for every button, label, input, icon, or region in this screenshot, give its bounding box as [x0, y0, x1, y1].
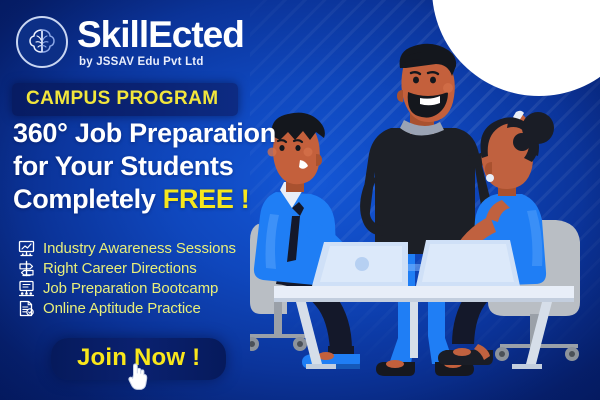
- presentation-chart-icon: [18, 240, 35, 257]
- feature-item-aptitude-practice: Online Aptitude Practice: [18, 300, 236, 317]
- campus-program-badge: CAMPUS PROGRAM: [12, 83, 238, 116]
- office-meeting-illustration: [250, 24, 600, 400]
- headline-line-2: for Your Students: [13, 150, 276, 183]
- bootcamp-classroom-icon: [18, 280, 35, 297]
- headline-free-highlight: FREE !: [163, 184, 250, 214]
- skillected-logo: SkillEcted by JSSAV Edu Pvt Ltd: [16, 16, 244, 69]
- feature-item-bootcamp: Job Preparation Bootcamp: [18, 280, 236, 297]
- feature-label: Industry Awareness Sessions: [43, 240, 236, 257]
- headline: 360° Job Preparation for Your Students C…: [13, 117, 276, 216]
- feature-item-industry-awareness: Industry Awareness Sessions: [18, 240, 236, 257]
- logo-tagline: by JSSAV Edu Pvt Ltd: [79, 57, 244, 69]
- feature-label: Job Preparation Bootcamp: [43, 280, 218, 297]
- join-now-button[interactable]: Join Now !: [51, 338, 226, 380]
- headline-line-3: Completely FREE !: [13, 183, 276, 216]
- brain-icon: [16, 16, 68, 68]
- campus-program-label: CAMPUS PROGRAM: [26, 88, 218, 109]
- online-test-document-icon: [18, 300, 35, 317]
- feature-list: Industry Awareness Sessions Right Career…: [18, 240, 236, 317]
- headline-line-3-prefix: Completely: [13, 184, 163, 214]
- feature-item-career-directions: Right Career Directions: [18, 260, 236, 277]
- join-now-label: Join Now !: [77, 344, 200, 371]
- feature-label: Right Career Directions: [43, 260, 197, 277]
- feature-label: Online Aptitude Practice: [43, 300, 201, 317]
- campus-program-banner: SkillEcted by JSSAV Edu Pvt Ltd CAMPUS P…: [0, 0, 600, 400]
- headline-line-1: 360° Job Preparation: [13, 117, 276, 150]
- logo-wordmark: SkillEcted: [77, 16, 244, 53]
- signpost-direction-icon: [18, 260, 35, 277]
